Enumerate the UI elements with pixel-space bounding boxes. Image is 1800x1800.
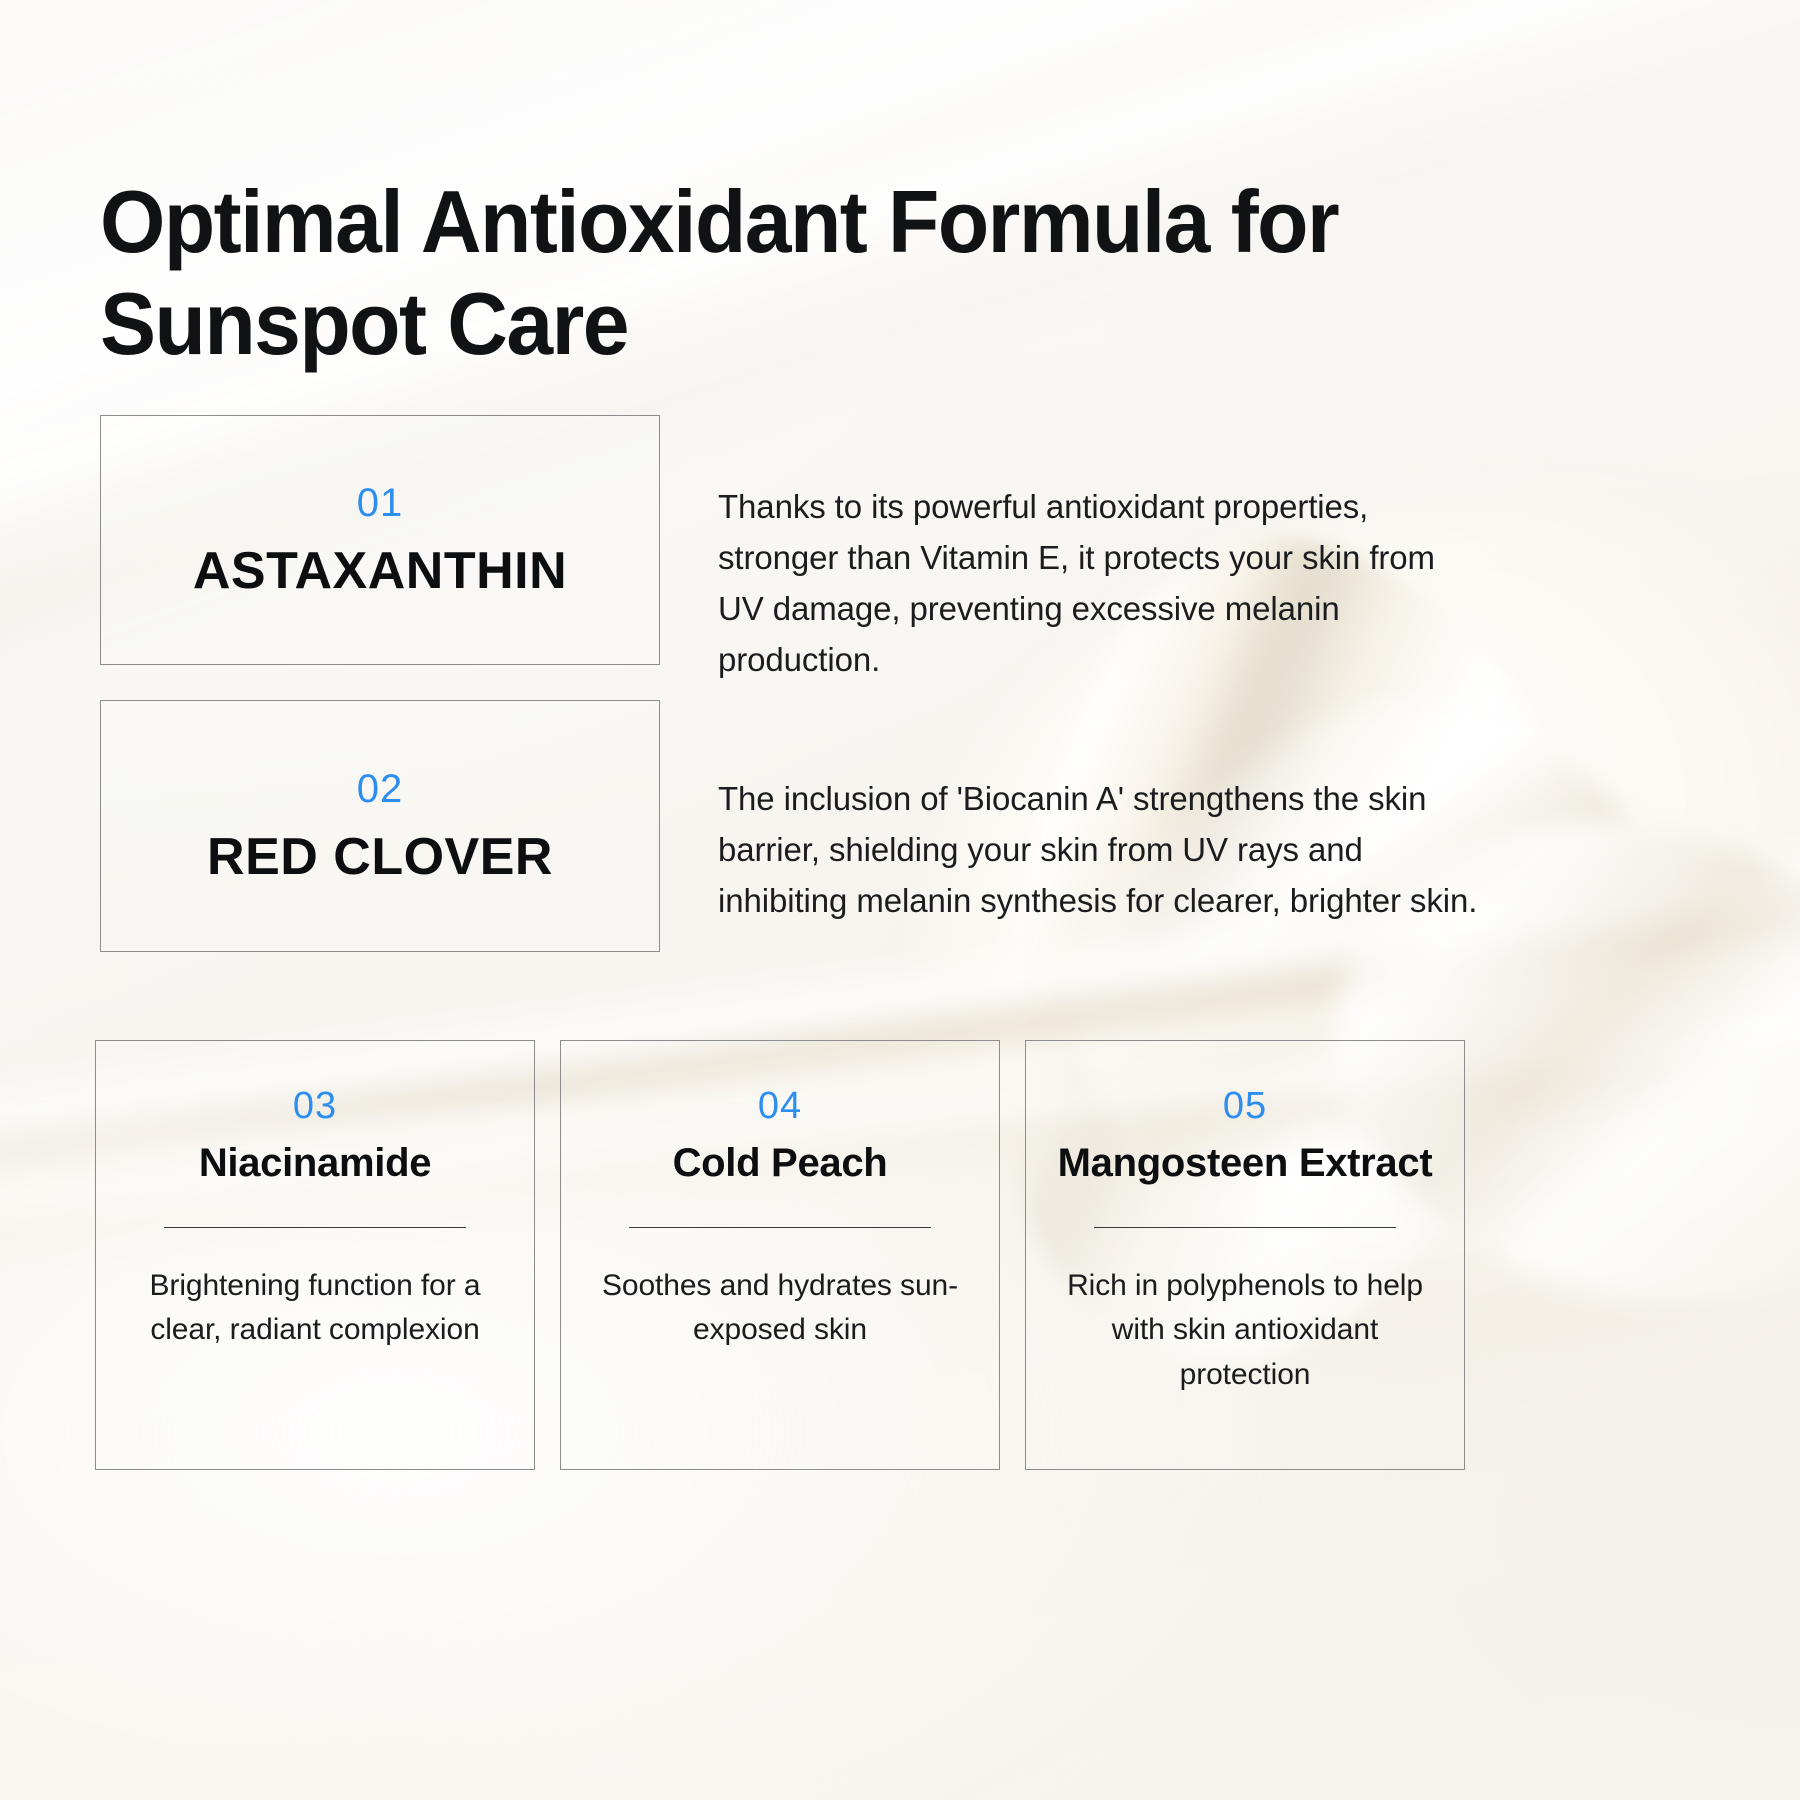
ingredient-number-05: 05 [1223,1087,1267,1125]
card-divider-03 [164,1227,465,1228]
ingredient-name-04: Cold Peach [673,1141,888,1185]
ingredient-description-03: Brightening function for a clear, radian… [122,1264,508,1353]
content-container: Optimal Antioxidant Formula for Sunspot … [0,0,1800,1800]
ingredient-box-02: 02 RED CLOVER [100,700,660,952]
ingredient-name-01: ASTAXANTHIN [193,545,567,597]
ingredient-number-03: 03 [293,1087,337,1125]
ingredient-card-05: 05 Mangosteen Extract Rich in polyphenol… [1025,1040,1465,1470]
ingredient-number-02: 02 [357,769,404,809]
ingredient-card-03: 03 Niacinamide Brightening function for … [95,1040,535,1470]
ingredient-name-03: Niacinamide [199,1141,431,1185]
ingredient-name-02: RED CLOVER [207,831,553,883]
ingredient-card-04: 04 Cold Peach Soothes and hydrates sun-e… [560,1040,1000,1470]
ingredient-description-01: Thanks to its powerful antioxidant prope… [718,481,1488,686]
ingredient-description-04: Soothes and hydrates sun-exposed skin [587,1264,973,1353]
ingredient-name-05: Mangosteen Extract [1058,1141,1433,1185]
ingredient-box-01: 01 ASTAXANTHIN [100,415,660,665]
ingredient-number-04: 04 [758,1087,802,1125]
card-divider-04 [629,1227,930,1228]
card-divider-05 [1094,1227,1395,1228]
page-title: Optimal Antioxidant Formula for Sunspot … [100,171,1437,375]
ingredient-description-02: The inclusion of 'Biocanin A' strengthen… [718,773,1488,926]
ingredient-description-05: Rich in polyphenols to help with skin an… [1052,1264,1438,1397]
ingredient-number-01: 01 [357,483,404,523]
